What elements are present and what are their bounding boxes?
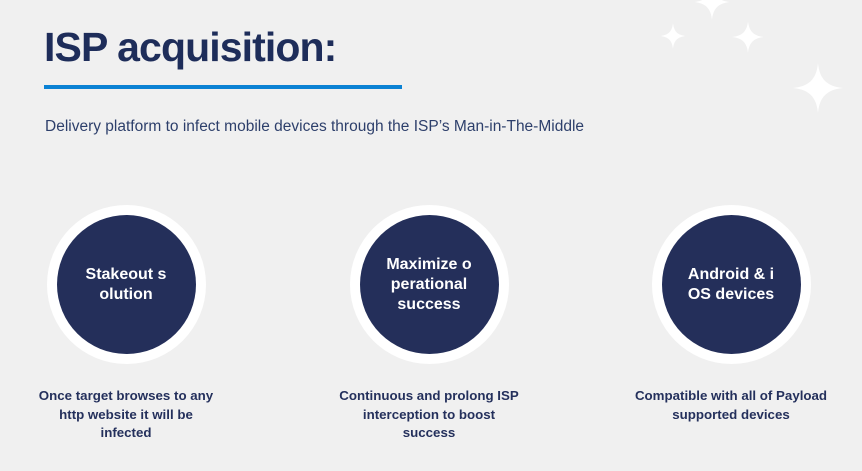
circle-badge: Stakeout solution — [57, 215, 196, 354]
circle-badge: Android & iOS devices — [662, 215, 801, 354]
page-subtitle: Delivery platform to infect mobile devic… — [45, 116, 584, 138]
circle-badge: Maximize operational success — [360, 215, 499, 354]
circle-label: Stakeout solution — [83, 265, 170, 305]
title-underline-rule — [44, 85, 402, 89]
header: ISP acquisition: Delivery platform to in… — [44, 22, 804, 72]
card-caption: Continuous and prolong ISP interception … — [329, 387, 529, 443]
page-title: ISP acquisition: — [44, 22, 804, 72]
slide-canvas: ISP acquisition: Delivery platform to in… — [0, 0, 862, 471]
circle-label: Maximize operational success — [386, 255, 473, 315]
feature-card-stakeout-solution: Stakeout solution Once target browses to… — [26, 205, 226, 443]
feature-card-maximize-operational-success: Maximize operational success Continuous … — [329, 205, 529, 443]
card-caption: Compatible with all of Payload supported… — [631, 387, 831, 424]
feature-card-android-ios-devices: Android & iOS devices Compatible with al… — [631, 205, 831, 424]
sparkle-top-center-icon — [694, 0, 730, 20]
card-caption: Once target browses to any http website … — [26, 387, 226, 443]
circle-label: Android & iOS devices — [688, 265, 775, 305]
circle-ring: Maximize operational success — [350, 205, 509, 364]
circle-ring: Android & iOS devices — [652, 205, 811, 364]
circle-ring: Stakeout solution — [47, 205, 206, 364]
